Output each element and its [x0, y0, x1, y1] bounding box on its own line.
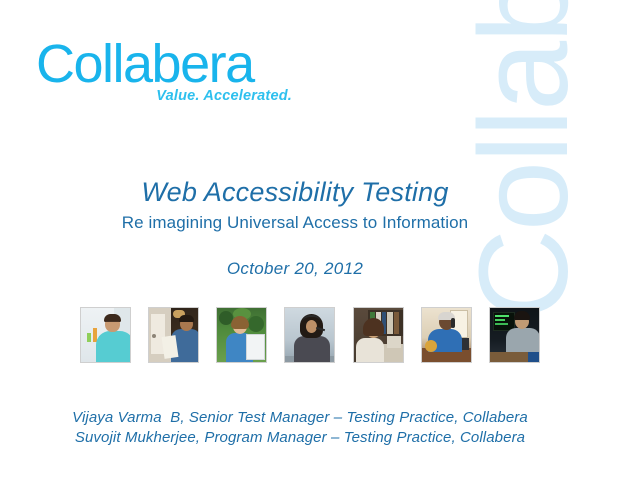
photo-person-hair	[514, 311, 530, 320]
photo-scene	[149, 308, 198, 362]
photo-scene	[422, 308, 471, 362]
photo-screen-text-line	[495, 323, 508, 325]
photo-person-hair	[231, 316, 249, 329]
photo-person-arm	[425, 340, 437, 352]
photo-scene	[217, 308, 266, 362]
presentation-date: October 20, 2012	[60, 258, 530, 280]
collabera-logo: Collabera Value. Accelerated.	[36, 36, 296, 104]
photo-binder	[394, 312, 399, 334]
photo-scene	[490, 308, 539, 362]
photo-thumbnail	[80, 307, 131, 363]
photo-person-torso	[96, 331, 131, 363]
logo-wordmark: Collabera	[36, 36, 296, 92]
photo-scene	[354, 308, 403, 362]
page-subtitle: Re imagining Universal Access to Informa…	[60, 212, 530, 234]
photo-person-glasses	[106, 321, 119, 325]
photo-screen-text-line	[495, 315, 509, 317]
photo-person-torso	[356, 338, 384, 363]
photo-monitor	[387, 336, 401, 348]
photo-person-torso	[294, 336, 330, 363]
photo-laptop	[246, 334, 265, 360]
photo-thumbnail	[353, 307, 404, 363]
photo-screen-text-line	[495, 319, 505, 321]
photo-person-hair	[363, 318, 384, 336]
photo-foliage	[248, 316, 264, 332]
photo-desk	[490, 352, 528, 362]
presenter-credits: Vijaya Varma B, Senior Test Manager – Te…	[60, 408, 540, 448]
presenter-line: Suvojit Mukherjee, Program Manager – Tes…	[60, 428, 540, 448]
photo-chart-bar	[87, 333, 91, 342]
photo-thumbnail	[216, 307, 267, 363]
photo-thumbnail	[148, 307, 199, 363]
photo-thumbnail	[489, 307, 540, 363]
photo-scene	[285, 308, 334, 362]
photo-strip	[80, 307, 540, 363]
photo-thumbnail	[284, 307, 335, 363]
title-block: Web Accessibility Testing Re imagining U…	[60, 176, 530, 280]
page-title: Web Accessibility Testing	[60, 176, 530, 209]
title-slide: Collabera Collabera Value. Accelerated. …	[0, 0, 640, 494]
photo-phone-handset	[451, 318, 455, 328]
presenter-line: Vijaya Varma B, Senior Test Manager – Te…	[60, 408, 540, 428]
photo-binder	[387, 312, 393, 334]
photo-scene	[81, 308, 130, 362]
photo-thumbnail	[421, 307, 472, 363]
photo-person-torso	[506, 328, 540, 352]
photo-person-hair	[179, 315, 194, 322]
